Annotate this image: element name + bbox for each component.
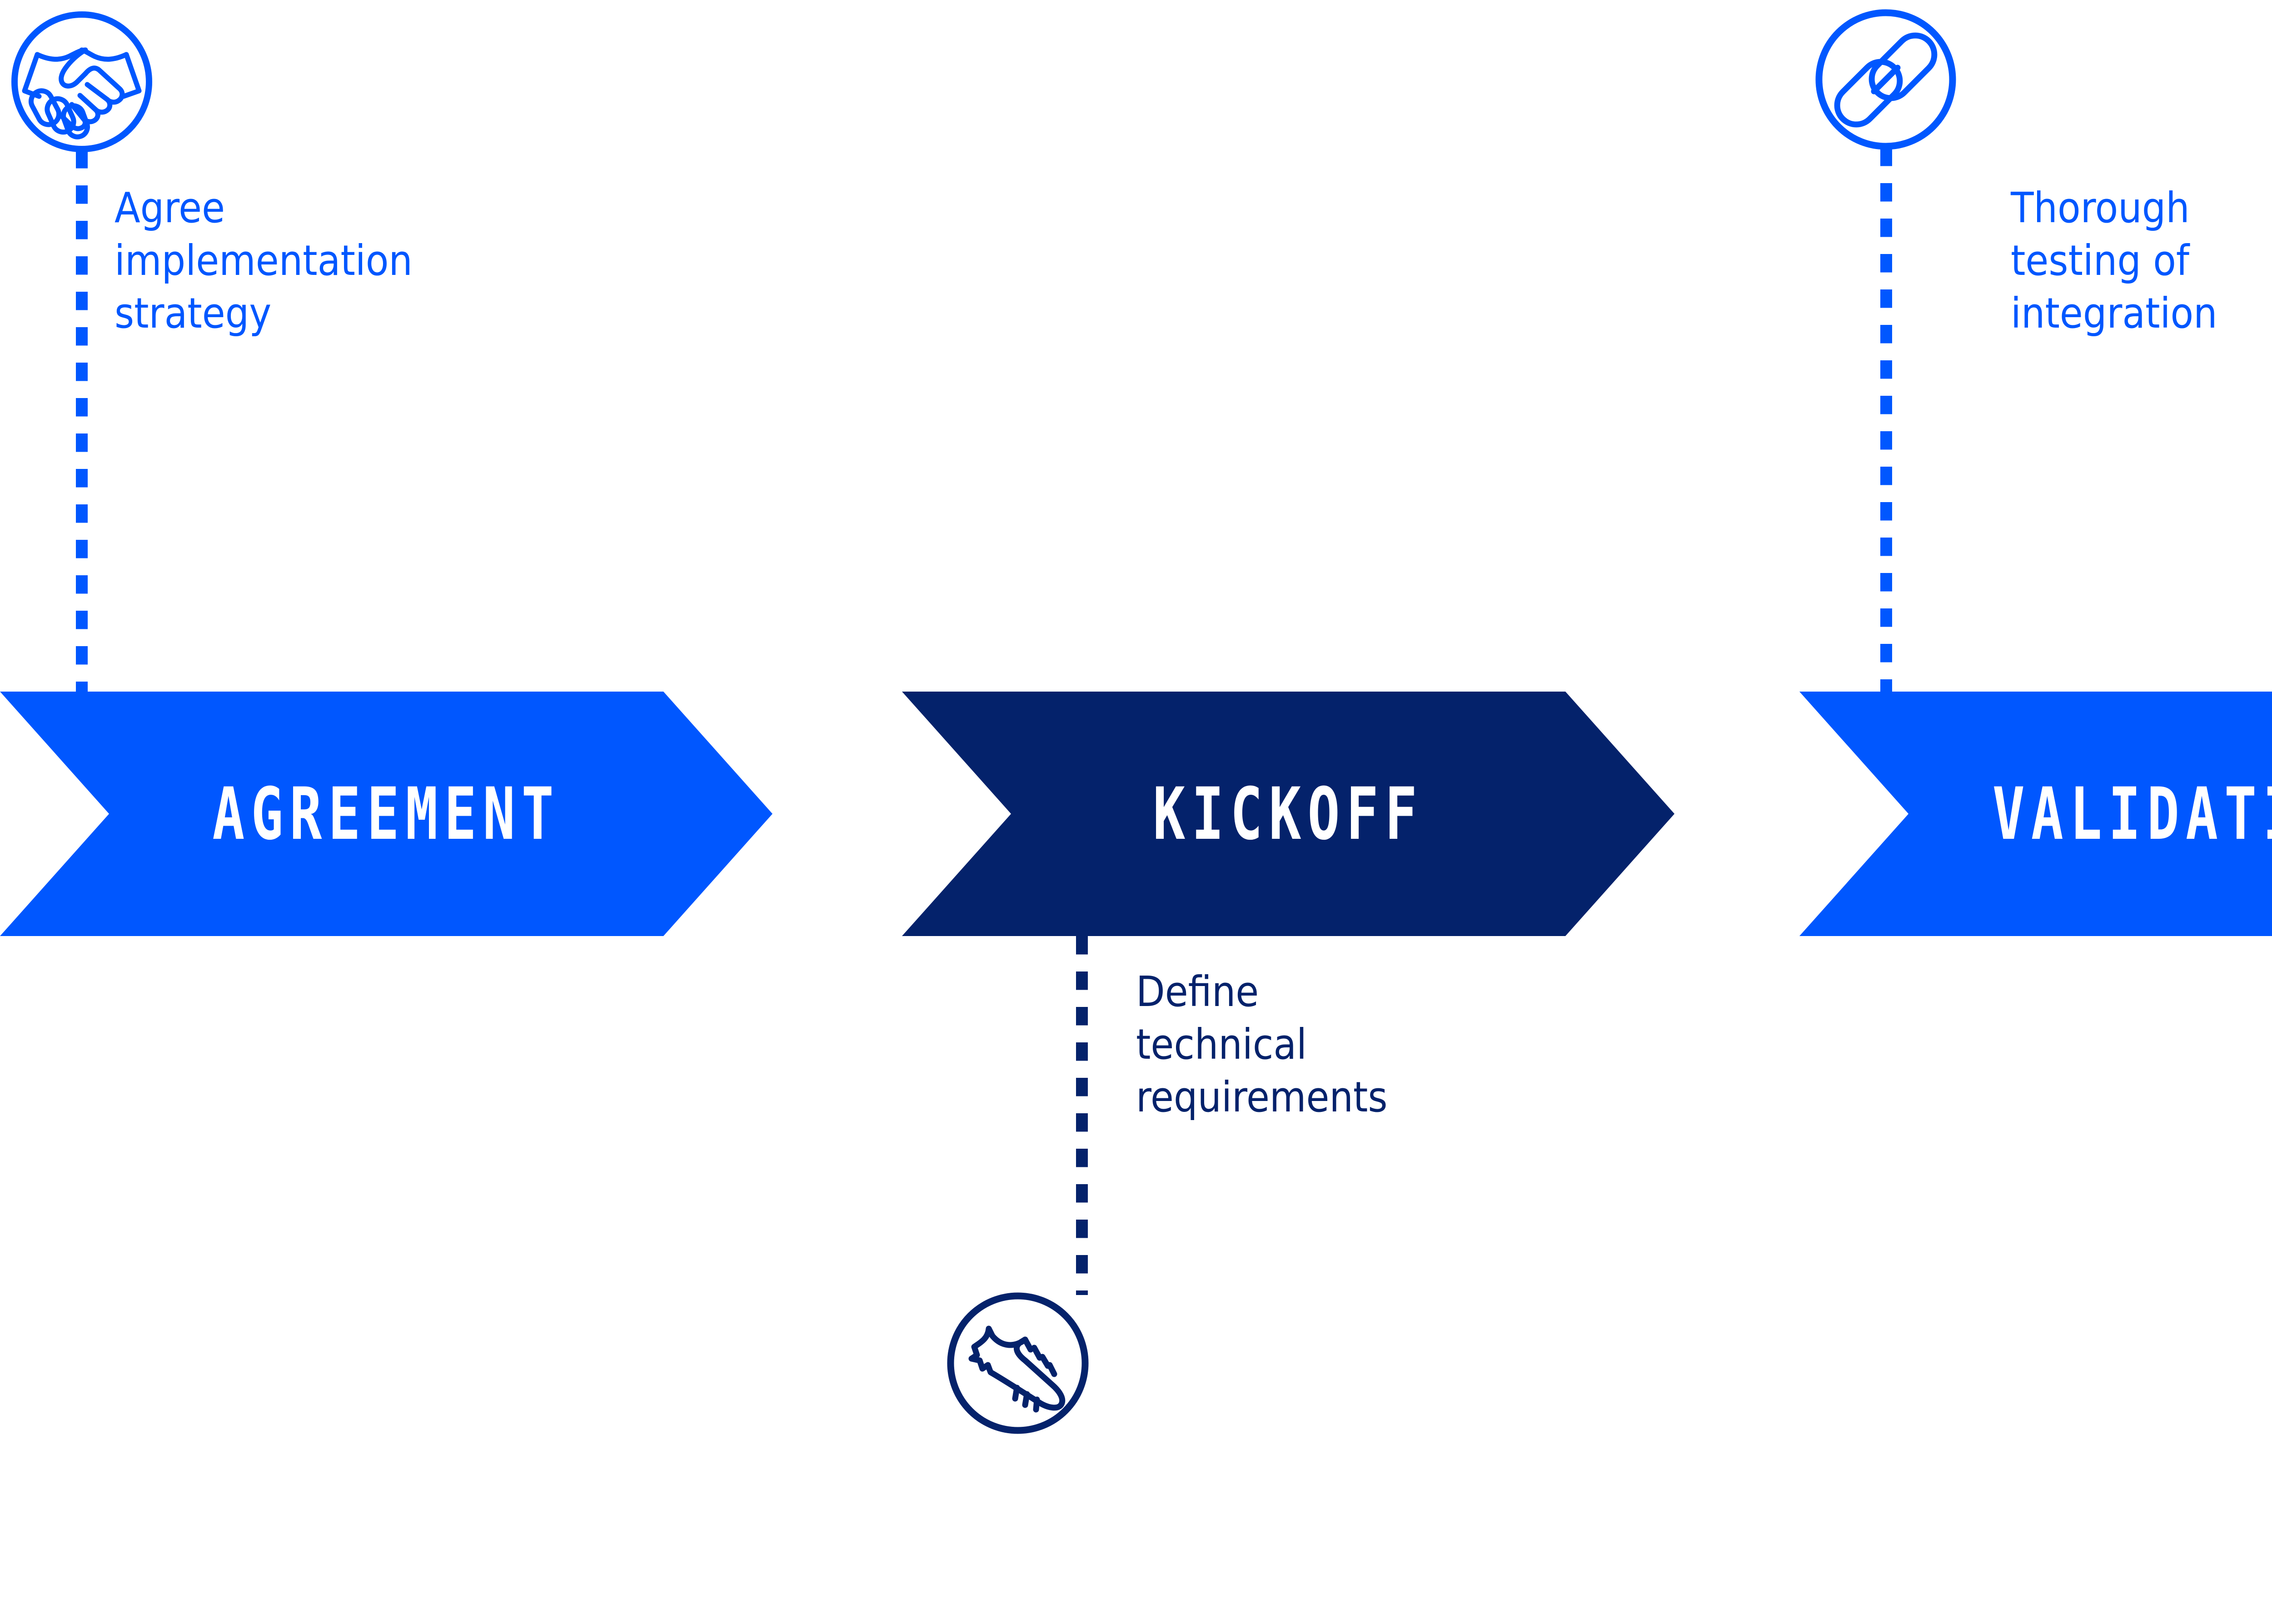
stage-chevron-kickoff[interactable]: KICKOFF (902, 692, 1674, 936)
chevron-shape-kickoff (902, 692, 1674, 936)
icon-bubble-validation[interactable] (1813, 7, 1958, 152)
caption-agreement: Agree implementation strategy (115, 182, 442, 340)
connector-agreement (76, 150, 88, 695)
stage-chevron-agreement[interactable]: AGREEMENT (0, 692, 772, 936)
caption-kickoff: Define technical requirements (1136, 966, 1481, 1124)
caption-validation: Thorough testing of integration (2011, 182, 2272, 340)
connector-kickoff (1076, 936, 1088, 1295)
chevron-shape-agreement (0, 692, 772, 936)
handshake-icon (9, 9, 154, 154)
football-boot-icon (945, 1290, 1091, 1436)
stage-chevron-validation[interactable]: VALIDATION (1799, 692, 2272, 936)
chevron-shape-validation (1799, 692, 2272, 936)
connector-validation (1880, 148, 1892, 693)
icon-bubble-agreement[interactable] (9, 9, 154, 154)
roadmap-diagram: AGREEMENT KICKOFF VALIDATION GO-LIVE (0, 0, 2272, 1624)
icon-bubble-kickoff[interactable] (945, 1290, 1091, 1436)
chain-link-icon (1813, 7, 1958, 152)
